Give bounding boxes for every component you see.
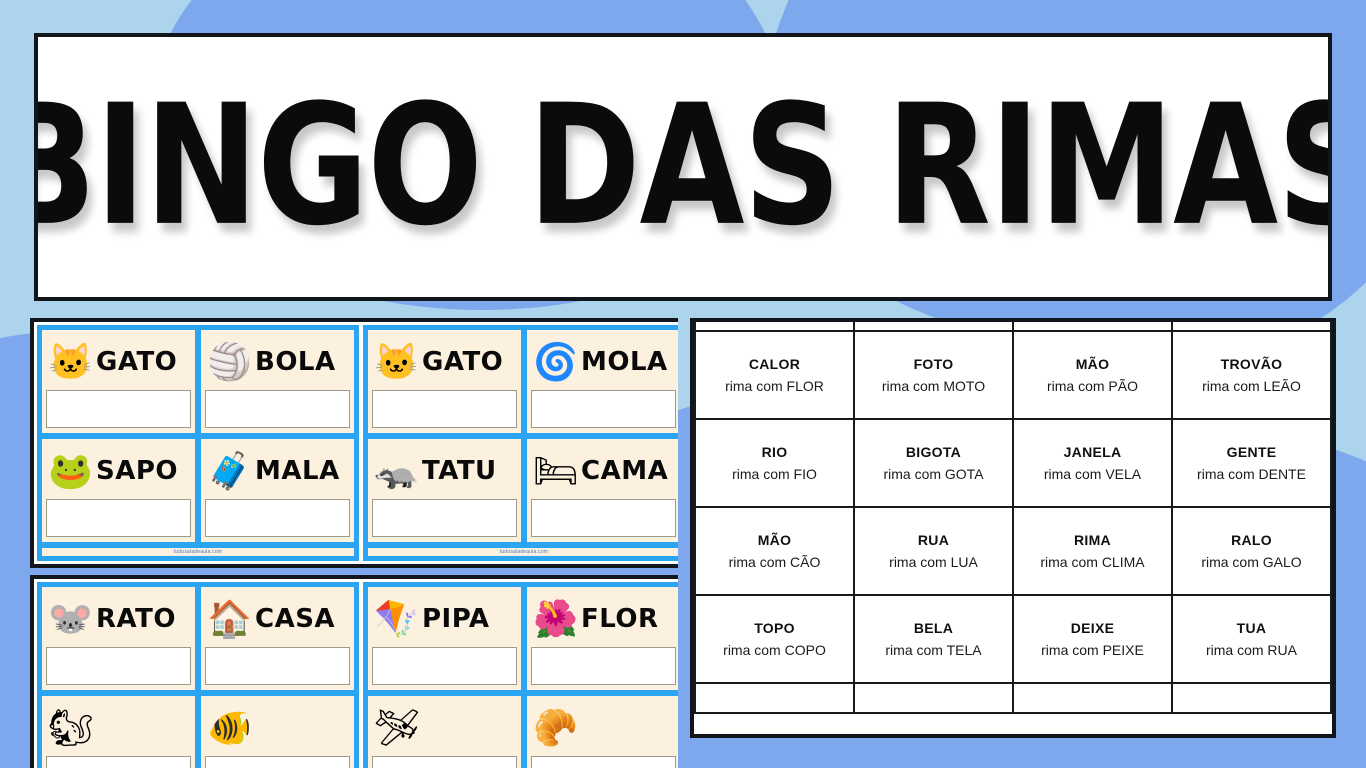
rhyme-hint: rima com PEIXE bbox=[1016, 642, 1169, 658]
rhyme-cell[interactable]: DEIXErima com PEIXE bbox=[1013, 595, 1172, 683]
suitcase-icon: 🧳 bbox=[207, 453, 251, 489]
bingo-answer-blank[interactable] bbox=[46, 390, 191, 428]
bingo-cell-header: 🏠CASA bbox=[205, 591, 350, 647]
bingo-card[interactable]: 🐭RATO🏠CASA🐿🐠tudosaladeaula.com bbox=[37, 582, 359, 768]
bingo-answer-blank[interactable] bbox=[531, 499, 676, 537]
cat-icon: 🐱 bbox=[48, 344, 92, 380]
bingo-cell[interactable]: 🐭RATO bbox=[42, 587, 195, 690]
bingo-cell-word: TATU bbox=[422, 456, 497, 486]
rhyme-word: DEIXE bbox=[1016, 620, 1169, 636]
bingo-cell-header: 🐭RATO bbox=[46, 591, 191, 647]
bingo-cell-header: 🧳MALA bbox=[205, 443, 350, 499]
bingo-cell-header: 🏐BOLA bbox=[205, 334, 350, 390]
rhyme-cell[interactable]: FOTOrima com MOTO bbox=[854, 331, 1013, 419]
rhyme-hint: rima com FIO bbox=[698, 466, 851, 482]
bingo-cell[interactable]: 🌀MOLA bbox=[527, 330, 678, 433]
rhyme-hint: rima com LUA bbox=[857, 554, 1010, 570]
watermark: tudosaladeaula.com bbox=[368, 548, 678, 556]
bingo-answer-blank[interactable] bbox=[46, 647, 191, 685]
bingo-cell[interactable]: 🐱GATO bbox=[368, 330, 521, 433]
watermark: tudosaladeaula.com bbox=[42, 548, 354, 556]
rhyme-cell[interactable]: RIOrima com FIO bbox=[695, 419, 854, 507]
rhyme-cell[interactable]: RALOrima com GALO bbox=[1172, 507, 1331, 595]
slide-canvas: BINGO DAS RIMAS 🐱GATO🏐BOLA🐸SAPO🧳MALAtudo… bbox=[0, 0, 1366, 768]
bingo-answer-blank[interactable] bbox=[531, 756, 676, 768]
bingo-cell-header: 🌺FLOR bbox=[531, 591, 676, 647]
bingo-cell-header: 🛩 bbox=[372, 700, 517, 756]
table-row: TOPOrima com COPOBELArima com TELADEIXEr… bbox=[695, 595, 1331, 683]
table-cell-empty bbox=[695, 683, 854, 713]
bingo-cell[interactable]: 🐿 bbox=[42, 696, 195, 768]
rhyme-word: RIMA bbox=[1016, 532, 1169, 548]
rhyme-hint: rima com COPO bbox=[698, 642, 851, 658]
bingo-cards-panel: 🐱GATO🏐BOLA🐸SAPO🧳MALAtudosaladeaula.com🐱G… bbox=[30, 318, 678, 768]
kite-icon: 🪁 bbox=[374, 601, 418, 637]
frog-icon: 🐸 bbox=[48, 453, 92, 489]
table-row: MÃOrima com CÃORUArima com LUARIMArima c… bbox=[695, 507, 1331, 595]
bingo-answer-blank[interactable] bbox=[372, 390, 517, 428]
bingo-cell[interactable]: 🧳MALA bbox=[201, 439, 354, 542]
house-icon: 🏠 bbox=[207, 601, 251, 637]
bingo-cell-header: 🐱GATO bbox=[372, 334, 517, 390]
bread-icon: 🥐 bbox=[533, 710, 577, 746]
rhyme-cell[interactable]: TROVÃOrima com LEÃO bbox=[1172, 331, 1331, 419]
rhyme-hint: rima com GOTA bbox=[857, 466, 1010, 482]
bingo-cell-header: 🐿 bbox=[46, 700, 191, 756]
bingo-cell-word: RATO bbox=[96, 604, 176, 634]
rhyme-word: TUA bbox=[1175, 620, 1328, 636]
rhyme-hint: rima com TELA bbox=[857, 642, 1010, 658]
bingo-cell-word: GATO bbox=[96, 347, 177, 377]
table-cell-empty bbox=[1013, 683, 1172, 713]
table-cell-empty bbox=[1013, 318, 1172, 331]
bingo-cell-word: FLOR bbox=[581, 604, 659, 634]
bingo-answer-blank[interactable] bbox=[46, 756, 191, 768]
bingo-answer-blank[interactable] bbox=[205, 499, 350, 537]
bingo-cell[interactable]: 🌺FLOR bbox=[527, 587, 678, 690]
bingo-answer-blank[interactable] bbox=[46, 499, 191, 537]
bingo-cell[interactable]: 🐱GATO bbox=[42, 330, 195, 433]
rhyme-table: CALORrima com FLORFOTOrima com MOTOMÃOri… bbox=[694, 318, 1332, 714]
rhyme-hint: rima com MOTO bbox=[857, 378, 1010, 394]
bingo-cell[interactable]: 🥐 bbox=[527, 696, 678, 768]
rhyme-cell[interactable]: GENTErima com DENTE bbox=[1172, 419, 1331, 507]
rhyme-cell[interactable]: TOPOrima com COPO bbox=[695, 595, 854, 683]
bed-icon: 🛏 bbox=[533, 453, 577, 489]
rhyme-word: RIO bbox=[698, 444, 851, 460]
bingo-cell[interactable]: 🏐BOLA bbox=[201, 330, 354, 433]
rhyme-word: RALO bbox=[1175, 532, 1328, 548]
table-row bbox=[695, 683, 1331, 713]
bingo-cell-word: PIPA bbox=[422, 604, 490, 634]
rhyme-word: FOTO bbox=[857, 356, 1010, 372]
rhyme-word: TOPO bbox=[698, 620, 851, 636]
bingo-cell-header: 🛏CAMA bbox=[531, 443, 676, 499]
rhyme-word: TROVÃO bbox=[1175, 356, 1328, 372]
table-row: CALORrima com FLORFOTOrima com MOTOMÃOri… bbox=[695, 331, 1331, 419]
bingo-cell-header: 🌀MOLA bbox=[531, 334, 676, 390]
rhyme-cell[interactable]: MÃOrima com CÃO bbox=[695, 507, 854, 595]
table-cell-empty bbox=[1172, 318, 1331, 331]
bingo-sheet: 🐭RATO🏠CASA🐿🐠tudosaladeaula.com🪁PIPA🌺FLOR… bbox=[30, 575, 678, 768]
bingo-cell-header: 🐠 bbox=[205, 700, 350, 756]
mouse-icon: 🐭 bbox=[48, 601, 92, 637]
rhyme-cell[interactable]: JANELArima com VELA bbox=[1013, 419, 1172, 507]
bingo-cell[interactable]: 🛩 bbox=[368, 696, 521, 768]
rhyme-hint: rima com LEÃO bbox=[1175, 378, 1328, 394]
armadillo-icon: 🦡 bbox=[374, 453, 418, 489]
rhyme-hint: rima com VELA bbox=[1016, 466, 1169, 482]
table-cell-empty bbox=[1172, 683, 1331, 713]
table-row bbox=[695, 318, 1331, 331]
rhyme-cell[interactable]: TUArima com RUA bbox=[1172, 595, 1331, 683]
rhyme-word: CALOR bbox=[698, 356, 851, 372]
airplane-icon: 🛩 bbox=[374, 710, 418, 746]
rhyme-word: BELA bbox=[857, 620, 1010, 636]
bingo-card[interactable]: 🐱GATO🌀MOLA🦡TATU🛏CAMAtudosaladeaula.com bbox=[363, 325, 678, 561]
flower-icon: 🌺 bbox=[533, 601, 577, 637]
rhyme-hint: rima com GALO bbox=[1175, 554, 1328, 570]
rhyme-hint: rima com RUA bbox=[1175, 642, 1328, 658]
rhyme-hint: rima com PÃO bbox=[1016, 378, 1169, 394]
bingo-answer-blank[interactable] bbox=[205, 647, 350, 685]
bingo-cell[interactable]: 🏠CASA bbox=[201, 587, 354, 690]
bingo-answer-blank[interactable] bbox=[531, 390, 676, 428]
bingo-answer-blank[interactable] bbox=[372, 647, 517, 685]
rhyme-word: GENTE bbox=[1175, 444, 1328, 460]
bingo-answer-blank[interactable] bbox=[372, 499, 517, 537]
rhyme-word: JANELA bbox=[1016, 444, 1169, 460]
bingo-cell[interactable]: 🐸SAPO bbox=[42, 439, 195, 542]
squirrel-icon: 🐿 bbox=[48, 710, 92, 746]
bingo-cell-word: CAMA bbox=[581, 456, 668, 486]
fish-icon: 🐠 bbox=[207, 710, 251, 746]
bingo-cell-word: GATO bbox=[422, 347, 503, 377]
bingo-answer-blank[interactable] bbox=[205, 756, 350, 768]
title-banner: BINGO DAS RIMAS bbox=[34, 33, 1332, 301]
rhyme-cell[interactable]: BELArima com TELA bbox=[854, 595, 1013, 683]
cat-icon: 🐱 bbox=[374, 344, 418, 380]
beachball-icon: 🏐 bbox=[207, 344, 251, 380]
bingo-cell-header: 🦡TATU bbox=[372, 443, 517, 499]
bingo-cell[interactable]: 🪁PIPA bbox=[368, 587, 521, 690]
table-cell-empty bbox=[695, 318, 854, 331]
table-row: RIOrima com FIOBIGOTArima com GOTAJANELA… bbox=[695, 419, 1331, 507]
rhyme-word: MÃO bbox=[698, 532, 851, 548]
rhyme-hint: rima com CÃO bbox=[698, 554, 851, 570]
bingo-sheet: 🐱GATO🏐BOLA🐸SAPO🧳MALAtudosaladeaula.com🐱G… bbox=[30, 318, 678, 568]
rhyme-cell[interactable]: RIMArima com CLIMA bbox=[1013, 507, 1172, 595]
bingo-cell-header: 🥐 bbox=[531, 700, 676, 756]
rhyme-hint: rima com FLOR bbox=[698, 378, 851, 394]
bingo-card[interactable]: 🐱GATO🏐BOLA🐸SAPO🧳MALAtudosaladeaula.com bbox=[37, 325, 359, 561]
rhyme-hint: rima com DENTE bbox=[1175, 466, 1328, 482]
bingo-cell[interactable]: 🛏CAMA bbox=[527, 439, 678, 542]
spring-icon: 🌀 bbox=[533, 344, 577, 380]
table-cell-empty bbox=[854, 683, 1013, 713]
bingo-cell-word: CASA bbox=[255, 604, 335, 634]
bingo-cell-header: 🐸SAPO bbox=[46, 443, 191, 499]
bingo-cell-header: 🐱GATO bbox=[46, 334, 191, 390]
rhyme-cell[interactable]: CALORrima com FLOR bbox=[695, 331, 854, 419]
rhyme-word: RUA bbox=[857, 532, 1010, 548]
bingo-cards-list: 🐱GATO🏐BOLA🐸SAPO🧳MALAtudosaladeaula.com🐱G… bbox=[30, 318, 678, 768]
rhyme-word: BIGOTA bbox=[857, 444, 1010, 460]
bingo-cell[interactable]: 🦡TATU bbox=[368, 439, 521, 542]
bingo-card[interactable]: 🪁PIPA🌺FLOR🛩🥐tudosaladeaula.com bbox=[363, 582, 678, 768]
bingo-cell-word: BOLA bbox=[255, 347, 336, 377]
rhyme-cell[interactable]: BIGOTArima com GOTA bbox=[854, 419, 1013, 507]
rhyme-hint: rima com CLIMA bbox=[1016, 554, 1169, 570]
bingo-cell-word: SAPO bbox=[96, 456, 178, 486]
rhyme-cell[interactable]: RUArima com LUA bbox=[854, 507, 1013, 595]
table-cell-empty bbox=[854, 318, 1013, 331]
bingo-cell-word: MALA bbox=[255, 456, 340, 486]
bingo-cell[interactable]: 🐠 bbox=[201, 696, 354, 768]
rhyme-word: MÃO bbox=[1016, 356, 1169, 372]
rhyme-table-panel: CALORrima com FLORFOTOrima com MOTOMÃOri… bbox=[690, 318, 1336, 738]
bingo-cell-header: 🪁PIPA bbox=[372, 591, 517, 647]
page-title: BINGO DAS RIMAS bbox=[34, 84, 1332, 250]
rhyme-cell[interactable]: MÃOrima com PÃO bbox=[1013, 331, 1172, 419]
bingo-answer-blank[interactable] bbox=[205, 390, 350, 428]
bingo-answer-blank[interactable] bbox=[531, 647, 676, 685]
bingo-answer-blank[interactable] bbox=[372, 756, 517, 768]
bingo-cell-word: MOLA bbox=[581, 347, 668, 377]
